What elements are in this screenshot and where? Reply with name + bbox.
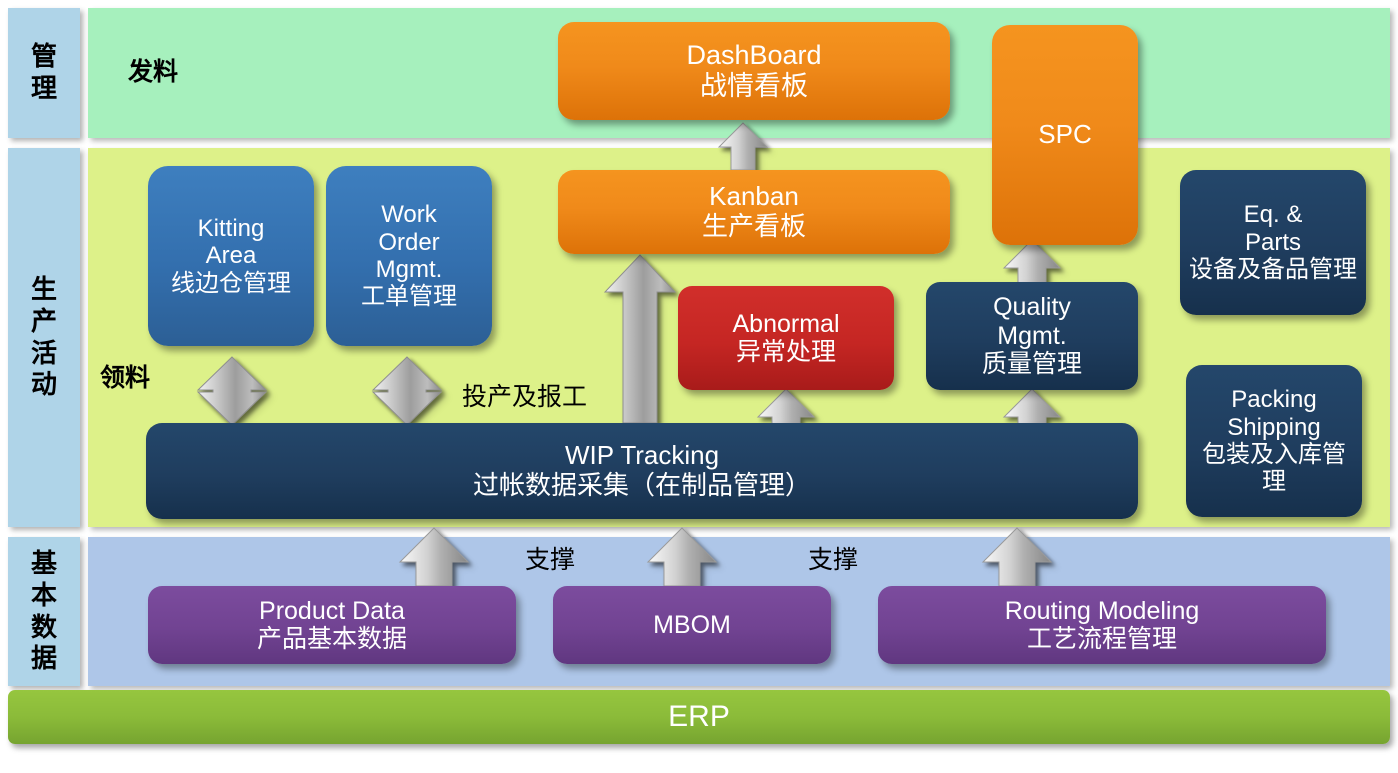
node-work-order-mgmt-cn: 工单管理: [361, 283, 457, 310]
node-packing-shipping-en: Packing Shipping: [1227, 386, 1320, 441]
annotation-pick-material: 领料: [100, 358, 150, 394]
arrow-productdata-to-wip: [400, 528, 468, 586]
annotation-support-2: 支撑: [808, 540, 858, 576]
annotation-support-1: 支撑: [525, 540, 575, 576]
node-quality-mgmt[interactable]: Quality Mgmt. 质量管理: [926, 282, 1138, 390]
node-dashboard-cn: 战情看板: [700, 71, 808, 102]
node-eq-and-parts[interactable]: Eq. & Parts 设备及备品管理: [1180, 170, 1366, 315]
node-kanban-cn: 生产看板: [702, 212, 806, 242]
node-work-order-mgmt-en: Work Order Mgmt.: [376, 201, 443, 283]
node-routing-modeling[interactable]: Routing Modeling 工艺流程管理: [878, 586, 1326, 664]
node-eq-and-parts-cn: 设备及备品管理: [1189, 256, 1357, 283]
arrow-workorder-to-wip: [373, 357, 441, 425]
node-spc-en: SPC: [1038, 120, 1091, 150]
node-abnormal-en: Abnormal: [733, 310, 840, 339]
arrow-kanban-to-dashboard: [719, 123, 767, 170]
node-abnormal[interactable]: Abnormal 异常处理: [678, 286, 894, 390]
node-product-data-en: Product Data: [259, 597, 405, 626]
node-erp[interactable]: ERP: [8, 690, 1390, 744]
node-packing-shipping[interactable]: Packing Shipping 包装及入库管理: [1186, 365, 1362, 517]
node-abnormal-cn: 异常处理: [736, 338, 836, 367]
node-quality-mgmt-en: Quality Mgmt.: [993, 293, 1071, 350]
node-kitting-area[interactable]: Kitting Area 线边仓管理: [148, 166, 314, 346]
arrow-routing-to-wip: [983, 528, 1051, 586]
node-dashboard[interactable]: DashBoard 战情看板: [558, 22, 950, 120]
node-wip-tracking[interactable]: WIP Tracking 过帐数据采集（在制品管理）: [146, 423, 1138, 519]
arrow-kitting-to-wip: [198, 357, 266, 425]
arrow-quality-to-spc: [1004, 240, 1060, 285]
node-quality-mgmt-cn: 质量管理: [982, 350, 1082, 379]
arrow-wip-to-kanban: [605, 255, 675, 423]
node-wip-tracking-cn: 过帐数据采集（在制品管理）: [473, 471, 811, 501]
node-kitting-area-en: Kitting Area: [198, 215, 265, 270]
node-erp-en: ERP: [668, 700, 730, 734]
node-routing-modeling-en: Routing Modeling: [1005, 597, 1200, 626]
diagram-canvas: 管理 生产活动 基本数据: [0, 0, 1398, 773]
node-kanban[interactable]: Kanban 生产看板: [558, 170, 950, 254]
node-dashboard-en: DashBoard: [686, 40, 821, 71]
node-wip-tracking-en: WIP Tracking: [565, 441, 719, 471]
node-product-data[interactable]: Product Data 产品基本数据: [148, 586, 516, 664]
node-eq-and-parts-en: Eq. & Parts: [1244, 201, 1303, 256]
annotation-production-report: 投产及报工: [462, 377, 587, 413]
node-mbom-en: MBOM: [653, 611, 731, 640]
annotation-issue-material: 发料: [128, 52, 178, 88]
node-routing-modeling-cn: 工艺流程管理: [1027, 625, 1177, 654]
node-packing-shipping-cn: 包装及入库管理: [1192, 441, 1356, 496]
node-kitting-area-cn: 线边仓管理: [171, 270, 291, 297]
node-mbom[interactable]: MBOM: [553, 586, 831, 664]
node-work-order-mgmt[interactable]: Work Order Mgmt. 工单管理: [326, 166, 492, 346]
arrow-mbom-to-wip: [648, 528, 716, 586]
node-kanban-en: Kanban: [709, 182, 799, 212]
node-product-data-cn: 产品基本数据: [257, 625, 407, 654]
node-spc[interactable]: SPC: [992, 25, 1138, 245]
